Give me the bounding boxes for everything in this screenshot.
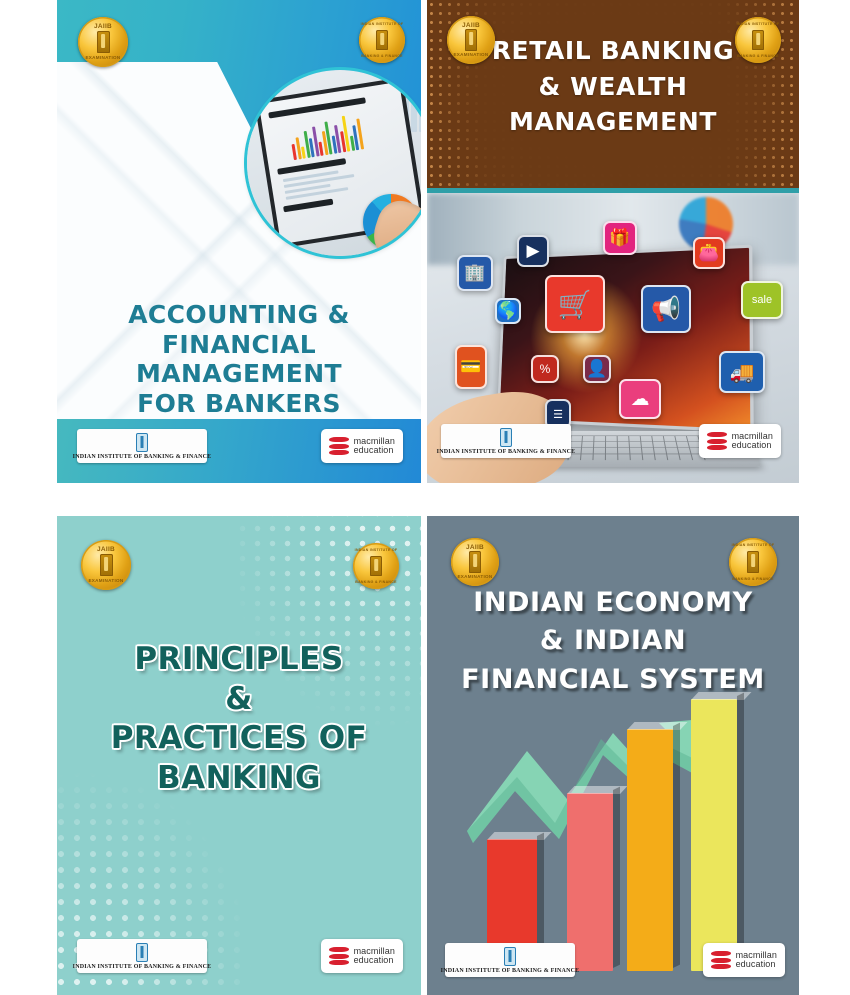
iibf-medallion: INDIAN INSTITUTE OF BANKING & FINANCE bbox=[735, 17, 781, 63]
institute-logo: INDIAN INSTITUTE OF BANKING & FINANCE bbox=[77, 939, 207, 973]
institute-emblem-icon bbox=[136, 943, 148, 962]
support-agent-icon: 👤 bbox=[583, 355, 611, 383]
discount-icon: % bbox=[531, 355, 559, 383]
product-image-grid: JAIIB EXAMINATION INDIAN INSTITUTE OF BA… bbox=[0, 0, 850, 995]
institute-logo-text: INDIAN INSTITUTE OF BANKING & FINANCE bbox=[73, 453, 212, 459]
medallion-top-text: JAIIB bbox=[81, 547, 131, 554]
globe-icon: 🌎 bbox=[495, 298, 521, 324]
medallion-ring-text-bottom: BANKING & FINANCE bbox=[353, 581, 399, 585]
medallion-emblem bbox=[465, 29, 477, 50]
title-line: & INDIAN bbox=[427, 622, 799, 660]
macmillan-mark-icon bbox=[711, 950, 731, 970]
medallion-emblem bbox=[469, 551, 481, 572]
store-icon: 🏢 bbox=[457, 255, 493, 291]
bar-side-face bbox=[673, 723, 680, 968]
title-line: MANAGEMENT bbox=[427, 104, 799, 140]
medallion-emblem bbox=[370, 556, 382, 576]
title-line: ACCOUNTING & bbox=[57, 300, 421, 330]
medallion-ring-text-bottom: BANKING & FINANCE bbox=[735, 55, 781, 59]
medallion-bottom-text: EXAMINATION bbox=[447, 53, 495, 58]
title-line: INDIAN ECONOMY bbox=[427, 584, 799, 622]
institute-emblem-icon bbox=[136, 433, 148, 452]
institute-logo-text: INDIAN INSTITUTE OF BANKING & FINANCE bbox=[437, 448, 576, 454]
cover-photo-tablet-dashboard bbox=[247, 70, 421, 256]
medallion-top-text: JAIIB bbox=[78, 24, 128, 31]
publisher-logo: macmillan education bbox=[699, 424, 781, 458]
mobile-payment-icon: 💳 bbox=[455, 345, 487, 389]
medallion-ring-text: INDIAN INSTITUTE OF bbox=[359, 23, 405, 27]
medallion-ring-text-bottom: BANKING & FINANCE bbox=[359, 55, 405, 59]
institute-emblem-icon bbox=[504, 947, 516, 966]
publisher-logo-line2: education bbox=[736, 960, 777, 969]
cart-icon: 🛒 bbox=[545, 275, 605, 333]
medallion-bottom-text: EXAMINATION bbox=[451, 575, 499, 580]
delivery-truck-icon: 🚚 bbox=[719, 351, 765, 393]
institute-logo-text: INDIAN INSTITUTE OF BANKING & FINANCE bbox=[441, 967, 580, 973]
cloud-icon: ☁ bbox=[619, 379, 661, 419]
title-line: PRINCIPLES bbox=[57, 640, 421, 680]
institute-logo: INDIAN INSTITUTE OF BANKING & FINANCE bbox=[77, 429, 207, 463]
medallion-ring-text: INDIAN INSTITUTE OF bbox=[735, 23, 781, 27]
jaiib-examination-medallion: JAIIB EXAMINATION bbox=[451, 538, 499, 586]
publisher-logo-line2: education bbox=[354, 446, 395, 455]
medallion-emblem bbox=[97, 31, 110, 53]
title-line: FINANCIAL MANAGEMENT bbox=[57, 330, 421, 389]
sale-tag-icon: sale bbox=[741, 281, 783, 319]
title-line: PRACTICES OF bbox=[57, 719, 421, 759]
bar-3 bbox=[627, 729, 673, 971]
macmillan-mark-icon bbox=[707, 431, 727, 451]
medallion-emblem bbox=[752, 30, 764, 50]
book-cover-principles-practices-of-banking[interactable]: JAIIB EXAMINATION INDIAN INSTITUTE OF BA… bbox=[57, 516, 421, 995]
iibf-medallion: INDIAN INSTITUTE OF BANKING & FINANCE bbox=[729, 538, 777, 586]
book-title: INDIAN ECONOMY & INDIAN FINANCIAL SYSTEM bbox=[427, 584, 799, 699]
institute-logo: INDIAN INSTITUTE OF BANKING & FINANCE bbox=[441, 424, 571, 458]
medallion-ring-text: INDIAN INSTITUTE OF bbox=[353, 549, 399, 553]
medallion-emblem bbox=[747, 551, 759, 572]
iibf-medallion: INDIAN INSTITUTE OF BANKING & FINANCE bbox=[359, 17, 405, 63]
institute-logo: INDIAN INSTITUTE OF BANKING & FINANCE bbox=[445, 943, 575, 977]
medallion-emblem bbox=[100, 554, 113, 576]
title-line: FOR BANKERS bbox=[57, 389, 421, 419]
publisher-logo: macmillan education bbox=[703, 943, 785, 977]
bar-side-face bbox=[613, 787, 620, 968]
book-title: ACCOUNTING & FINANCIAL MANAGEMENT FOR BA… bbox=[57, 300, 421, 418]
megaphone-icon: 📢 bbox=[641, 285, 691, 333]
jaiib-examination-medallion: JAIIB EXAMINATION bbox=[81, 540, 131, 590]
bar-side-face bbox=[737, 693, 744, 968]
medallion-emblem bbox=[376, 30, 388, 50]
publisher-logo-line2: education bbox=[354, 956, 395, 965]
wallet-icon: 👛 bbox=[693, 237, 725, 269]
title-line: & WEALTH bbox=[427, 69, 799, 105]
accent-divider bbox=[427, 188, 799, 193]
video-icon: ▶ bbox=[517, 235, 549, 267]
institute-logo-text: INDIAN INSTITUTE OF BANKING & FINANCE bbox=[73, 963, 212, 969]
title-line: BANKING bbox=[57, 759, 421, 799]
jaiib-examination-medallion: JAIIB EXAMINATION bbox=[447, 16, 495, 64]
gift-box-icon: 🎁 bbox=[603, 221, 637, 255]
publisher-logo: macmillan education bbox=[321, 939, 403, 973]
macmillan-mark-icon bbox=[329, 436, 349, 456]
book-cover-retail-banking-wealth-management[interactable]: RETAIL BANKING & WEALTH MANAGEMENT JAIIB… bbox=[427, 0, 799, 483]
publisher-logo: macmillan education bbox=[321, 429, 403, 463]
medallion-bottom-text: EXAMINATION bbox=[81, 579, 131, 584]
bar-4 bbox=[691, 699, 737, 971]
medallion-bottom-text: EXAMINATION bbox=[78, 56, 128, 61]
jaiib-examination-medallion: JAIIB EXAMINATION bbox=[78, 17, 128, 67]
book-cover-indian-economy-financial-system[interactable]: JAIIB EXAMINATION INDIAN INSTITUTE OF BA… bbox=[427, 516, 799, 995]
institute-emblem-icon bbox=[500, 428, 512, 447]
macmillan-mark-icon bbox=[329, 946, 349, 966]
medallion-ring-text-bottom: BANKING & FINANCE bbox=[729, 578, 777, 582]
title-line: & bbox=[57, 680, 421, 720]
iibf-medallion: INDIAN INSTITUTE OF BANKING & FINANCE bbox=[353, 543, 399, 589]
book-cover-accounting-financial-management[interactable]: JAIIB EXAMINATION INDIAN INSTITUTE OF BA… bbox=[57, 0, 421, 483]
medallion-ring-text: INDIAN INSTITUTE OF bbox=[729, 544, 777, 548]
book-title: PRINCIPLES & PRACTICES OF BANKING bbox=[57, 640, 421, 799]
publisher-logo-line2: education bbox=[732, 441, 773, 450]
